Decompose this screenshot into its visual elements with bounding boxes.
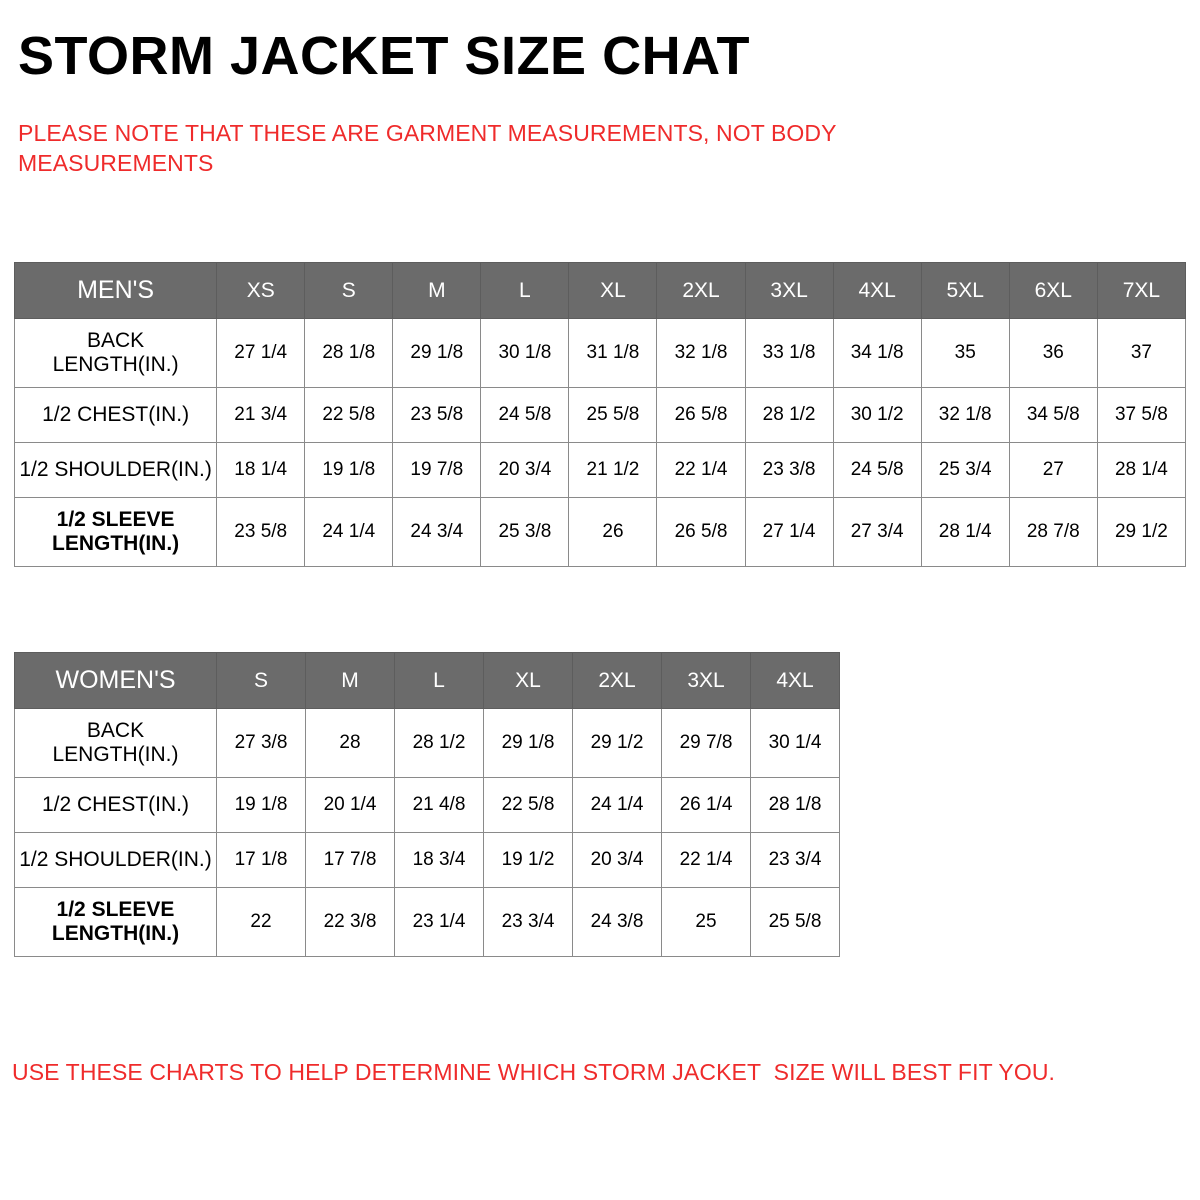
measurement-cell: 30 1/8 xyxy=(481,319,569,388)
measurement-cell: 18 1/4 xyxy=(217,443,305,498)
measurement-cell: 27 xyxy=(1009,443,1097,498)
womens-measurement-label: 1/2 SLEEVELENGTH(IN.) xyxy=(15,888,217,957)
measurement-cell: 22 3/8 xyxy=(306,888,395,957)
womens-size-header-4xl: 4XL xyxy=(751,653,840,709)
measurement-cell: 30 1/2 xyxy=(833,388,921,443)
page-title: STORM JACKET SIZE CHAT xyxy=(18,28,750,85)
measurement-cell: 22 1/4 xyxy=(657,443,745,498)
womens-measurement-label: 1/2 SHOULDER(IN.) xyxy=(15,833,217,888)
measurement-cell: 29 1/2 xyxy=(1097,498,1185,567)
measurement-cell: 28 1/8 xyxy=(305,319,393,388)
mens-size-header-l: L xyxy=(481,263,569,319)
measurement-cell: 20 3/4 xyxy=(573,833,662,888)
measurement-cell: 21 3/4 xyxy=(217,388,305,443)
measurement-cell: 28 1/2 xyxy=(745,388,833,443)
mens-size-header-7xl: 7XL xyxy=(1097,263,1185,319)
measurement-cell: 24 1/4 xyxy=(573,778,662,833)
measurement-cell: 25 3/8 xyxy=(481,498,569,567)
measurement-cell: 25 5/8 xyxy=(751,888,840,957)
measurement-cell: 18 3/4 xyxy=(395,833,484,888)
womens-table-head: WOMEN'S SMLXL2XL3XL4XL xyxy=(15,653,840,709)
womens-size-header-3xl: 3XL xyxy=(662,653,751,709)
womens-header-row: WOMEN'S SMLXL2XL3XL4XL xyxy=(15,653,840,709)
mens-size-header-m: M xyxy=(393,263,481,319)
measurement-cell: 36 xyxy=(1009,319,1097,388)
mens-header-row: MEN'S XSSMLXL2XL3XL4XL5XL6XL7XL xyxy=(15,263,1186,319)
measurement-cell: 23 5/8 xyxy=(217,498,305,567)
womens-size-table: WOMEN'S SMLXL2XL3XL4XL BACKLENGTH(IN.)27… xyxy=(14,652,840,957)
measurement-cell: 24 3/4 xyxy=(393,498,481,567)
table-row: 1/2 SHOULDER(IN.)18 1/419 1/819 7/820 3/… xyxy=(15,443,1186,498)
measurement-cell: 17 7/8 xyxy=(306,833,395,888)
measurement-cell: 27 3/8 xyxy=(217,709,306,778)
measurement-cell: 22 xyxy=(217,888,306,957)
measurement-cell: 22 5/8 xyxy=(484,778,573,833)
mens-measurement-label: BACKLENGTH(IN.) xyxy=(15,319,217,388)
mens-size-header-5xl: 5XL xyxy=(921,263,1009,319)
measurement-cell: 25 xyxy=(662,888,751,957)
measurement-cell: 19 1/2 xyxy=(484,833,573,888)
measurement-cell: 22 1/4 xyxy=(662,833,751,888)
measurement-cell: 34 1/8 xyxy=(833,319,921,388)
womens-measurement-label: 1/2 CHEST(IN.) xyxy=(15,778,217,833)
measurement-cell: 25 3/4 xyxy=(921,443,1009,498)
measurement-cell: 37 xyxy=(1097,319,1185,388)
measurement-cell: 27 1/4 xyxy=(745,498,833,567)
mens-measurement-label: 1/2 SHOULDER(IN.) xyxy=(15,443,217,498)
mens-size-header-4xl: 4XL xyxy=(833,263,921,319)
measurement-cell: 26 xyxy=(569,498,657,567)
table-row: 1/2 SHOULDER(IN.)17 1/817 7/818 3/419 1/… xyxy=(15,833,840,888)
measurement-cell: 28 1/2 xyxy=(395,709,484,778)
measurement-cell: 21 4/8 xyxy=(395,778,484,833)
measurement-cell: 26 5/8 xyxy=(657,498,745,567)
measurement-cell: 27 3/4 xyxy=(833,498,921,567)
measurement-cell: 29 1/8 xyxy=(484,709,573,778)
measurement-cell: 22 5/8 xyxy=(305,388,393,443)
mens-category-header: MEN'S xyxy=(15,263,217,319)
measurement-cell: 19 7/8 xyxy=(393,443,481,498)
measurement-cell: 26 5/8 xyxy=(657,388,745,443)
mens-table-body: BACKLENGTH(IN.)27 1/428 1/829 1/830 1/83… xyxy=(15,319,1186,567)
womens-size-header-s: S xyxy=(217,653,306,709)
mens-size-header-3xl: 3XL xyxy=(745,263,833,319)
measurement-cell: 24 1/4 xyxy=(305,498,393,567)
measurement-cell: 25 5/8 xyxy=(569,388,657,443)
mens-size-header-xs: XS xyxy=(217,263,305,319)
measurement-cell: 20 1/4 xyxy=(306,778,395,833)
mens-table-head: MEN'S XSSMLXL2XL3XL4XL5XL6XL7XL xyxy=(15,263,1186,319)
measurement-cell: 34 5/8 xyxy=(1009,388,1097,443)
measurement-cell: 29 1/2 xyxy=(573,709,662,778)
womens-measurement-label: BACKLENGTH(IN.) xyxy=(15,709,217,778)
table-row: BACKLENGTH(IN.)27 3/82828 1/229 1/829 1/… xyxy=(15,709,840,778)
mens-size-header-xl: XL xyxy=(569,263,657,319)
measurement-cell: 28 xyxy=(306,709,395,778)
measurement-cell: 33 1/8 xyxy=(745,319,833,388)
womens-category-header: WOMEN'S xyxy=(15,653,217,709)
womens-size-header-xl: XL xyxy=(484,653,573,709)
mens-size-header-6xl: 6XL xyxy=(1009,263,1097,319)
measurement-cell: 32 1/8 xyxy=(657,319,745,388)
measurement-cell: 28 1/4 xyxy=(1097,443,1185,498)
womens-size-header-m: M xyxy=(306,653,395,709)
usage-instruction-note: USE THESE CHARTS TO HELP DETERMINE WHICH… xyxy=(12,1058,1172,1088)
mens-size-header-2xl: 2XL xyxy=(657,263,745,319)
measurement-cell: 23 3/4 xyxy=(751,833,840,888)
measurement-cell: 17 1/8 xyxy=(217,833,306,888)
womens-table-body: BACKLENGTH(IN.)27 3/82828 1/229 1/829 1/… xyxy=(15,709,840,957)
table-row: 1/2 CHEST(IN.)19 1/820 1/421 4/822 5/824… xyxy=(15,778,840,833)
measurement-cell: 31 1/8 xyxy=(569,319,657,388)
measurement-cell: 37 5/8 xyxy=(1097,388,1185,443)
measurement-cell: 23 3/8 xyxy=(745,443,833,498)
table-row: 1/2 CHEST(IN.)21 3/422 5/823 5/824 5/825… xyxy=(15,388,1186,443)
womens-size-header-2xl: 2XL xyxy=(573,653,662,709)
measurement-cell: 27 1/4 xyxy=(217,319,305,388)
mens-measurement-label: 1/2 CHEST(IN.) xyxy=(15,388,217,443)
measurement-cell: 23 1/4 xyxy=(395,888,484,957)
measurement-cell: 19 1/8 xyxy=(305,443,393,498)
table-row: BACKLENGTH(IN.)27 1/428 1/829 1/830 1/83… xyxy=(15,319,1186,388)
measurement-cell: 28 7/8 xyxy=(1009,498,1097,567)
measurement-cell: 32 1/8 xyxy=(921,388,1009,443)
mens-measurement-label: 1/2 SLEEVELENGTH(IN.) xyxy=(15,498,217,567)
size-chart-page: STORM JACKET SIZE CHAT PLEASE NOTE THAT … xyxy=(0,0,1200,1200)
measurement-cell: 28 1/8 xyxy=(751,778,840,833)
measurement-cell: 28 1/4 xyxy=(921,498,1009,567)
table-row: 1/2 SLEEVELENGTH(IN.)2222 3/823 1/423 3/… xyxy=(15,888,840,957)
measurement-cell: 23 5/8 xyxy=(393,388,481,443)
measurement-cell: 23 3/4 xyxy=(484,888,573,957)
mens-size-table: MEN'S XSSMLXL2XL3XL4XL5XL6XL7XL BACKLENG… xyxy=(14,262,1186,567)
table-row: 1/2 SLEEVELENGTH(IN.)23 5/824 1/424 3/42… xyxy=(15,498,1186,567)
measurement-cell: 29 1/8 xyxy=(393,319,481,388)
measurement-cell: 21 1/2 xyxy=(569,443,657,498)
measurement-cell: 30 1/4 xyxy=(751,709,840,778)
garment-measurement-note: PLEASE NOTE THAT THESE ARE GARMENT MEASU… xyxy=(18,118,1018,179)
measurement-cell: 29 7/8 xyxy=(662,709,751,778)
measurement-cell: 24 3/8 xyxy=(573,888,662,957)
measurement-cell: 26 1/4 xyxy=(662,778,751,833)
measurement-cell: 35 xyxy=(921,319,1009,388)
mens-size-header-s: S xyxy=(305,263,393,319)
measurement-cell: 24 5/8 xyxy=(481,388,569,443)
measurement-cell: 19 1/8 xyxy=(217,778,306,833)
measurement-cell: 24 5/8 xyxy=(833,443,921,498)
womens-size-header-l: L xyxy=(395,653,484,709)
measurement-cell: 20 3/4 xyxy=(481,443,569,498)
